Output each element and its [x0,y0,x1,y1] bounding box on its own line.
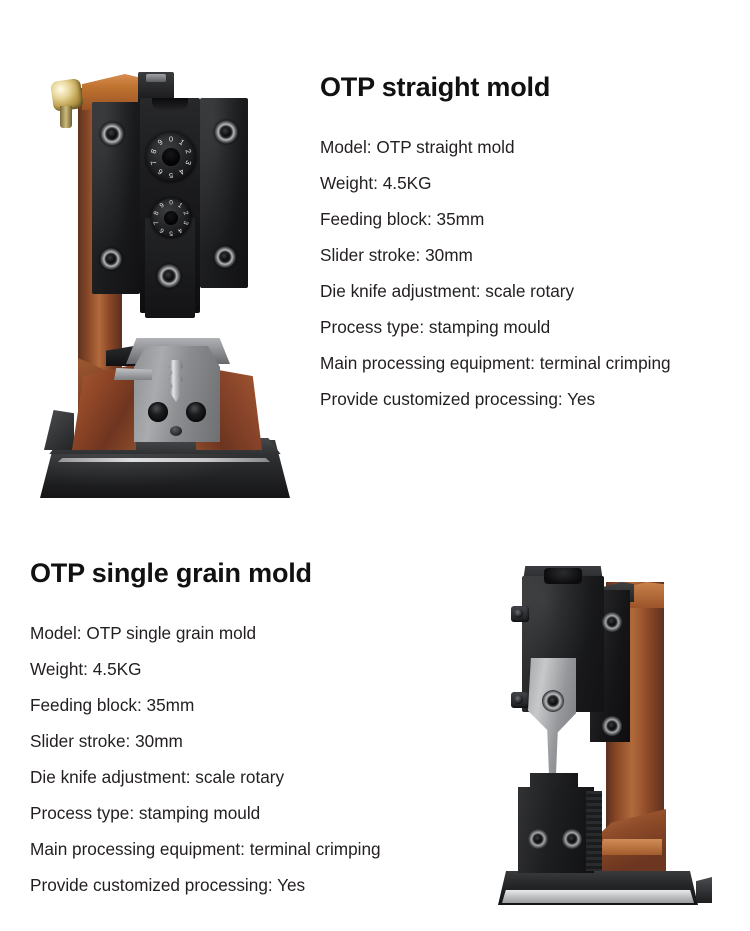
spec-line: Main processing equipment: terminal crim… [30,831,490,867]
product-spec-page: 0123456789 0123456789 OTP straight mold … [0,0,750,931]
page-title: OTP straight mold [320,72,740,103]
dial-digit: 0 [169,200,173,207]
dial-hole [164,211,178,225]
dial-digit: 7 [154,220,161,225]
dial-digit: 3 [181,220,188,225]
spec-line: Feeding block: 35mm [30,687,490,723]
dial-digit: 2 [181,211,188,216]
cap-screw-bottom-left [100,248,122,270]
base-corner-block [696,877,712,903]
anvil-socket-right [186,402,206,422]
cap-screw-top-right [214,120,238,144]
base-plate-silver-edge [502,890,694,903]
side-bolt-lower [511,692,529,708]
dial-digit: 1 [176,203,183,210]
copper-foot-highlight [598,839,662,855]
lower-screw-left [528,829,548,849]
plate-screw-upper [602,612,622,632]
dial-digit: 5 [169,229,173,236]
spec-line: Weight: 4.5KG [320,165,740,201]
spec-line: Process type: stamping mould [30,795,490,831]
blade-screw [542,690,564,712]
dial-digit: 5 [169,171,173,179]
side-bolt-upper [511,606,529,622]
dial-digit: 4 [176,226,183,233]
spec-line: Die knife adjustment: scale rotary [30,759,490,795]
dial-digit: 8 [150,148,158,154]
lower-screw-right [562,829,582,849]
spec-list-straight-mold: OTP straight mold Model: OTP straight mo… [320,72,740,417]
cap-screw-bottom-right [214,246,236,268]
dial-digit: 9 [159,203,166,210]
brass-bolt-stem [60,106,72,128]
dial-digit: 8 [154,211,161,216]
product-block-single-grain-mold: OTP single grain mold Model: OTP single … [0,510,750,931]
dial-digit: 9 [157,138,165,147]
spec-line: Weight: 4.5KG [30,651,490,687]
product-block-straight-mold: 0123456789 0123456789 OTP straight mold … [0,0,750,510]
spec-line: Feeding block: 35mm [320,201,740,237]
cap-screw-center [157,264,181,288]
spec-line: Main processing equipment: terminal crim… [320,345,740,381]
scale-dial-lower: 0123456789 [151,198,191,238]
dial-hole [162,148,180,166]
die-blade [528,658,576,778]
spec-line: Model: OTP single grain mold [30,615,490,651]
dial-digit: 4 [178,167,186,176]
dial-digit: 6 [157,167,165,176]
dial-digit: 7 [150,159,158,165]
product-image-straight-mold: 0123456789 0123456789 [30,36,300,506]
dial-digit: 6 [159,226,166,233]
dial-digit: 2 [184,148,192,154]
page-title: OTP single grain mold [30,558,490,589]
spec-line: Slider stroke: 30mm [320,237,740,273]
spec-line: Slider stroke: 30mm [30,723,490,759]
dial-digit: 0 [169,135,173,143]
head-slot [544,568,582,584]
spec-line: Provide customized processing: Yes [320,381,740,417]
otp-single-grain-mold-photo [480,540,730,915]
spec-line: Provide customized processing: Yes [30,867,490,903]
base-plate-edge [58,458,270,462]
spec-list-single-grain-mold: OTP single grain mold Model: OTP single … [30,558,490,903]
spec-line: Die knife adjustment: scale rotary [320,273,740,309]
spec-line: Model: OTP straight mold [320,129,740,165]
cap-screw-top-left [100,122,124,146]
base-left-rail [44,410,74,450]
lower-anvil-block [518,787,594,873]
product-image-single-grain-mold [480,540,730,915]
anvil-center-pin [170,426,182,436]
anvil-side-shelf [114,368,152,380]
spec-line: Process type: stamping mould [320,309,740,345]
dial-digit: 1 [178,138,186,147]
dial-digit: 3 [184,159,192,165]
center-notch [152,98,188,110]
plate-screw-lower [602,716,622,736]
lower-ridge [586,791,602,871]
anvil-socket-left [148,402,168,422]
otp-straight-mold-photo: 0123456789 0123456789 [30,36,300,506]
bracket-highlight [146,74,166,82]
scale-dial-upper: 0123456789 [146,132,196,182]
